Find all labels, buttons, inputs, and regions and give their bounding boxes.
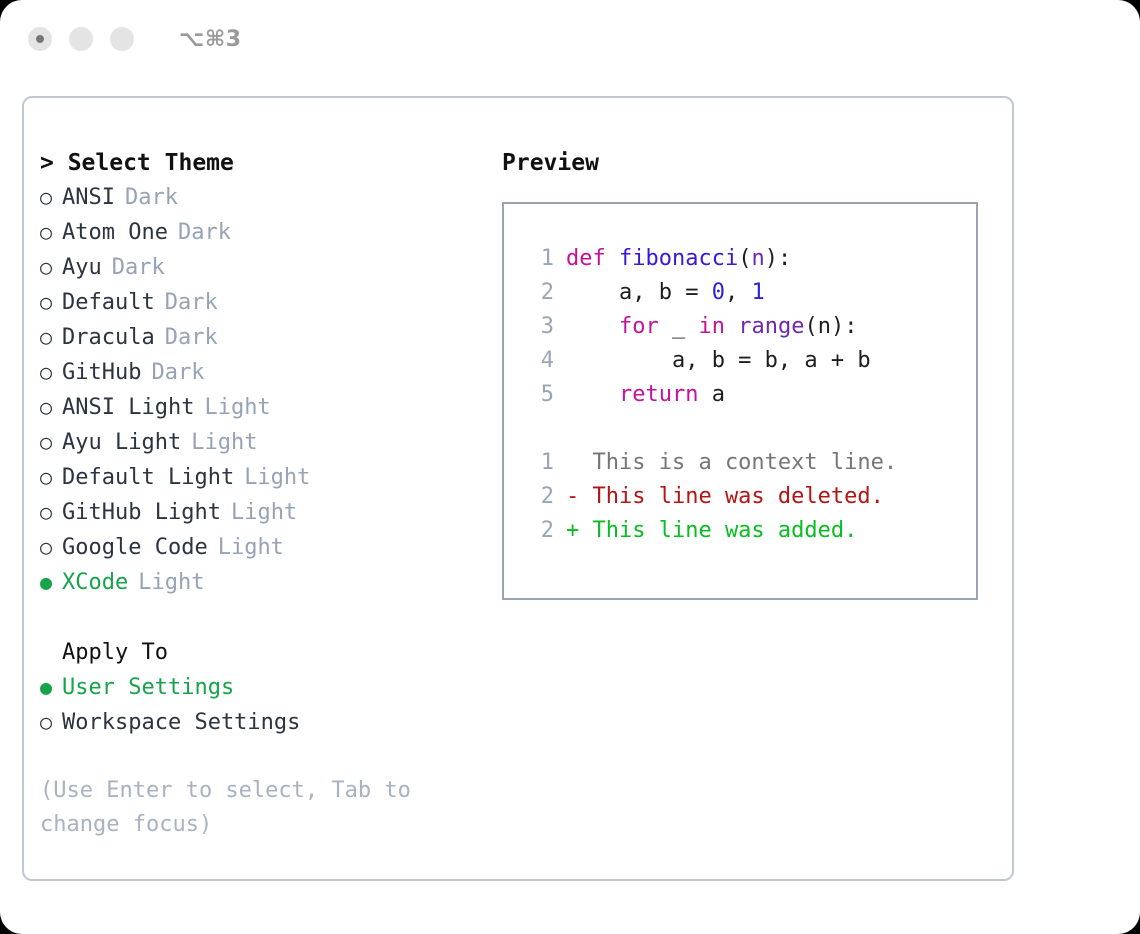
app-window: ⌥⌘3 > Select Theme ○ANSIDark○Atom OneDar… (0, 0, 1140, 934)
diff-line: 2+ This line was added. (504, 514, 976, 548)
token-pln: a, b = (566, 280, 712, 305)
theme-option-label: Ayu Light (62, 426, 181, 460)
code-text: return a (566, 378, 725, 412)
theme-option-ansi[interactable]: ○ANSIDark (40, 180, 470, 215)
token-var: range (738, 314, 804, 339)
code-text: for _ in range(n): (566, 310, 857, 344)
radio-unselected-icon: ○ (40, 285, 62, 319)
preview-code-box: 1def fibonacci(n):2 a, b = 0, 13 for _ i… (502, 202, 978, 600)
apply-to-option-list: ●User Settings○Workspace Settings (40, 670, 470, 740)
theme-variant-tag: Light (218, 531, 284, 565)
line-number: 3 (520, 310, 554, 344)
theme-variant-tag: Dark (165, 286, 218, 320)
theme-variant-tag: Light (191, 426, 257, 460)
theme-option-xcode[interactable]: ●XCodeLight (40, 565, 470, 600)
line-number: 2 (520, 514, 554, 548)
radio-unselected-icon: ○ (40, 180, 62, 214)
theme-option-label: Ayu (62, 251, 102, 285)
code-line: 3 for _ in range(n): (504, 310, 976, 344)
theme-option-default[interactable]: ○DefaultDark (40, 285, 470, 320)
theme-option-atom-one[interactable]: ○Atom OneDark (40, 215, 470, 250)
theme-option-label: ANSI (62, 181, 115, 215)
theme-variant-tag: Dark (178, 216, 231, 250)
theme-variant-tag: Light (138, 566, 204, 600)
token-fn: fibonacci (619, 246, 738, 271)
theme-option-label: Google Code (62, 531, 208, 565)
diff-sample: 1 This is a context line.2- This line wa… (504, 446, 976, 548)
code-line: 1def fibonacci(n): (504, 242, 976, 276)
theme-variant-tag: Dark (112, 251, 165, 285)
keyboard-hint-text: (Use Enter to select, Tab to change focu… (40, 774, 440, 842)
line-number: 5 (520, 378, 554, 412)
token-del: - This line was deleted. (566, 484, 884, 509)
section-spacer (40, 600, 470, 636)
radio-selected-icon: ● (40, 670, 62, 704)
token-num: 0 (712, 280, 725, 305)
apply-option-label: User Settings (62, 671, 234, 705)
theme-option-google-code[interactable]: ○Google CodeLight (40, 530, 470, 565)
code-text: def fibonacci(n): (566, 242, 791, 276)
code-text: a, b = 0, 1 (566, 276, 765, 310)
theme-option-ayu-light[interactable]: ○Ayu LightLight (40, 425, 470, 460)
theme-option-github[interactable]: ○GitHubDark (40, 355, 470, 390)
title-bar: ⌥⌘3 (0, 0, 1140, 78)
token-pln: a, b = b, a + b (566, 348, 871, 373)
apply-option-user-settings[interactable]: ●User Settings (40, 670, 470, 705)
theme-option-label: GitHub Light (62, 496, 221, 530)
select-theme-heading: > Select Theme (40, 146, 470, 180)
main-panel: > Select Theme ○ANSIDark○Atom OneDark○Ay… (22, 96, 1014, 881)
token-pln (606, 246, 619, 271)
token-pln: , (725, 280, 752, 305)
theme-variant-tag: Dark (125, 181, 178, 215)
theme-option-label: Default (62, 286, 155, 320)
preview-heading: Preview (502, 146, 992, 180)
keyboard-shortcut-label: ⌥⌘3 (179, 27, 242, 52)
theme-option-label: Dracula (62, 321, 155, 355)
theme-variant-tag: Light (231, 496, 297, 530)
diff-line: 1 This is a context line. (504, 446, 976, 480)
window-dot-second-icon[interactable] (69, 27, 93, 51)
theme-option-ansi-light[interactable]: ○ANSI LightLight (40, 390, 470, 425)
token-var: n (751, 246, 764, 271)
token-pln (725, 314, 738, 339)
radio-unselected-icon: ○ (40, 390, 62, 424)
theme-selector-column: > Select Theme ○ANSIDark○Atom OneDark○Ay… (40, 146, 470, 842)
window-dot-third-icon[interactable] (110, 27, 134, 51)
radio-unselected-icon: ○ (40, 215, 62, 249)
radio-unselected-icon: ○ (40, 495, 62, 529)
code-sample: 1def fibonacci(n):2 a, b = 0, 13 for _ i… (504, 242, 976, 412)
code-diff-spacer (504, 412, 976, 446)
apply-option-workspace-settings[interactable]: ○Workspace Settings (40, 705, 470, 740)
radio-unselected-icon: ○ (40, 320, 62, 354)
theme-option-github-light[interactable]: ○GitHub LightLight (40, 495, 470, 530)
line-number: 2 (520, 480, 554, 514)
code-line: 4 a, b = b, a + b (504, 344, 976, 378)
line-number: 1 (520, 242, 554, 276)
line-number: 1 (520, 446, 554, 480)
code-text: - This line was deleted. (566, 480, 884, 514)
radio-unselected-icon: ○ (40, 355, 62, 389)
token-pln: ( (738, 246, 751, 271)
token-pln: _ (659, 314, 699, 339)
radio-unselected-icon: ○ (40, 460, 62, 494)
apply-to-heading: Apply To (40, 636, 470, 670)
code-line: 2 a, b = 0, 1 (504, 276, 976, 310)
radio-unselected-icon: ○ (40, 250, 62, 284)
theme-option-label: Atom One (62, 216, 168, 250)
radio-selected-icon: ● (40, 565, 62, 599)
token-pln: (n): (804, 314, 857, 339)
theme-option-default-light[interactable]: ○Default LightLight (40, 460, 470, 495)
theme-option-dracula[interactable]: ○DraculaDark (40, 320, 470, 355)
theme-option-list: ○ANSIDark○Atom OneDark○AyuDark○DefaultDa… (40, 180, 470, 600)
radio-unselected-icon: ○ (40, 425, 62, 459)
code-text: + This line was added. (566, 514, 857, 548)
code-text: a, b = b, a + b (566, 344, 871, 378)
token-pln (566, 314, 619, 339)
window-dot-active-icon[interactable] (28, 27, 52, 51)
theme-variant-tag: Light (204, 391, 270, 425)
code-line: 5 return a (504, 378, 976, 412)
token-pln: ): (765, 246, 792, 271)
window-dot-inner (36, 35, 44, 43)
theme-variant-tag: Dark (151, 356, 204, 390)
token-pln: a (698, 382, 725, 407)
preview-column: Preview 1def fibonacci(n):2 a, b = 0, 13… (502, 146, 992, 600)
apply-option-label: Workspace Settings (62, 706, 300, 740)
token-kw: def (566, 246, 606, 271)
token-add: + This line was added. (566, 518, 857, 543)
radio-unselected-icon: ○ (40, 530, 62, 564)
window-controls (28, 27, 134, 51)
token-kw: return (619, 382, 698, 407)
line-number: 4 (520, 344, 554, 378)
theme-option-ayu[interactable]: ○AyuDark (40, 250, 470, 285)
token-kw: in (698, 314, 725, 339)
diff-line: 2- This line was deleted. (504, 480, 976, 514)
token-pln (566, 382, 619, 407)
code-text: This is a context line. (566, 446, 897, 480)
token-kw: for (619, 314, 659, 339)
theme-variant-tag: Light (244, 461, 310, 495)
theme-option-label: GitHub (62, 356, 141, 390)
theme-option-label: ANSI Light (62, 391, 194, 425)
theme-option-label: XCode (62, 566, 128, 600)
token-num: 1 (751, 280, 764, 305)
radio-unselected-icon: ○ (40, 705, 62, 739)
token-ctx: This is a context line. (566, 450, 897, 475)
theme-option-label: Default Light (62, 461, 234, 495)
theme-variant-tag: Dark (165, 321, 218, 355)
line-number: 2 (520, 276, 554, 310)
